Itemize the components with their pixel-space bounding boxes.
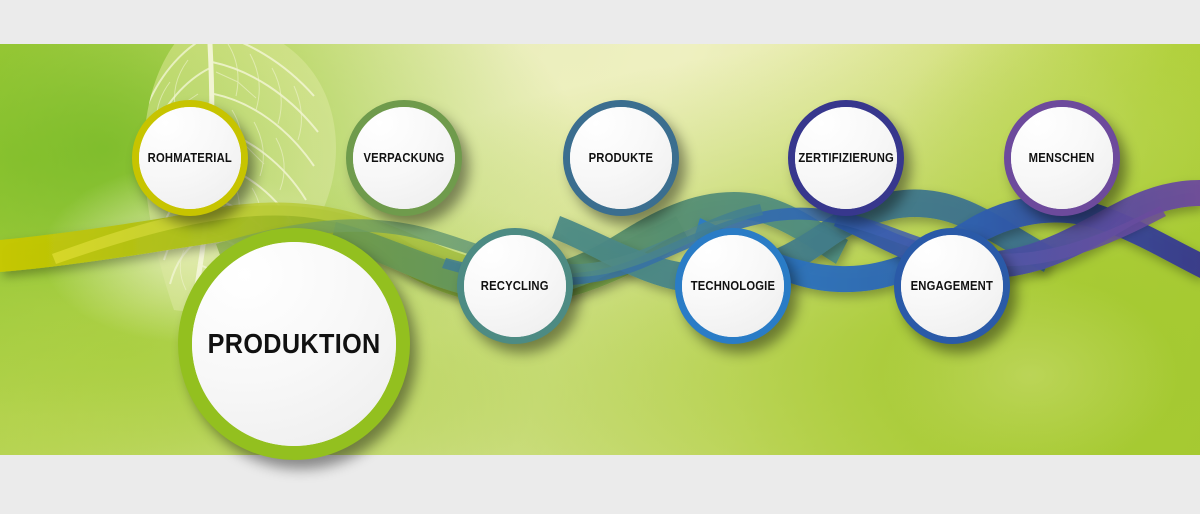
node-verpackung[interactable]: VERPACKUNG <box>346 100 462 216</box>
node-zertifizierung[interactable]: ZERTIFIZIERUNG <box>788 100 904 216</box>
node-label-zertifizierung: ZERTIFIZIERUNG <box>798 151 894 165</box>
node-rohmaterial[interactable]: ROHMATERIAL <box>132 100 248 216</box>
node-recycling[interactable]: RECYCLING <box>457 228 573 344</box>
node-label-engagement: ENGAGEMENT <box>911 279 993 293</box>
top-gray-band <box>0 0 1200 44</box>
node-produkte[interactable]: PRODUKTE <box>563 100 679 216</box>
node-label-recycling: RECYCLING <box>481 279 549 293</box>
node-label-technologie: TECHNOLOGIE <box>691 279 775 293</box>
node-label-verpackung: VERPACKUNG <box>363 151 444 165</box>
node-produktion[interactable]: PRODUKTION <box>178 228 410 460</box>
node-label-produkte: PRODUKTE <box>589 151 654 165</box>
node-engagement[interactable]: ENGAGEMENT <box>894 228 1010 344</box>
bottom-gray-band <box>0 455 1200 514</box>
node-label-rohmaterial: ROHMATERIAL <box>148 151 232 165</box>
node-menschen[interactable]: MENSCHEN <box>1004 100 1120 216</box>
infographic-canvas: PRODUKTIONROHMATERIALVERPACKUNGRECYCLING… <box>0 0 1200 514</box>
node-label-menschen: MENSCHEN <box>1029 151 1095 165</box>
node-technologie[interactable]: TECHNOLOGIE <box>675 228 791 344</box>
node-label-produktion: PRODUKTION <box>207 328 380 360</box>
